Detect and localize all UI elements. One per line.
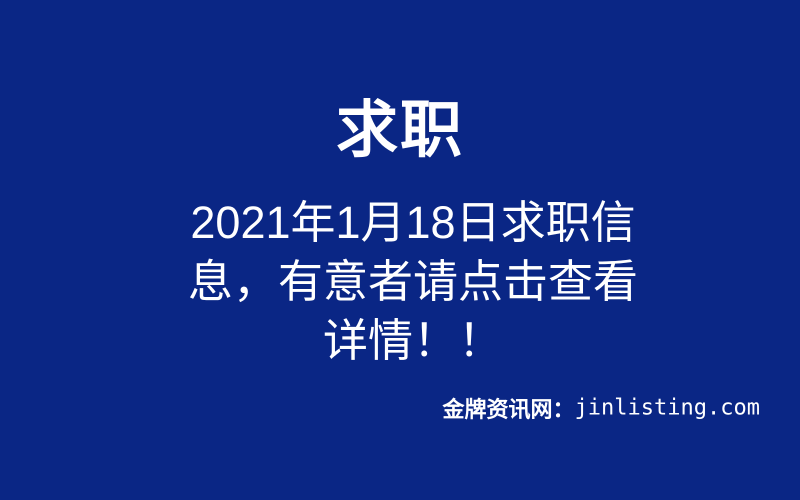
promo-banner: 求职 2021年1月18日求职信息，有意者请点击查看详情！！ 金牌资讯网：jin… bbox=[0, 0, 800, 500]
site-name-label: 金牌资讯网： bbox=[443, 397, 575, 422]
site-domain-label: jinlisting.com bbox=[575, 396, 760, 421]
banner-message: 2021年1月18日求职信息，有意者请点击查看详情！！ bbox=[185, 193, 641, 370]
site-attribution: 金牌资讯网：jinlisting.com bbox=[0, 392, 760, 424]
banner-message-container: 2021年1月18日求职信息，有意者请点击查看详情！！ bbox=[185, 148, 641, 415]
